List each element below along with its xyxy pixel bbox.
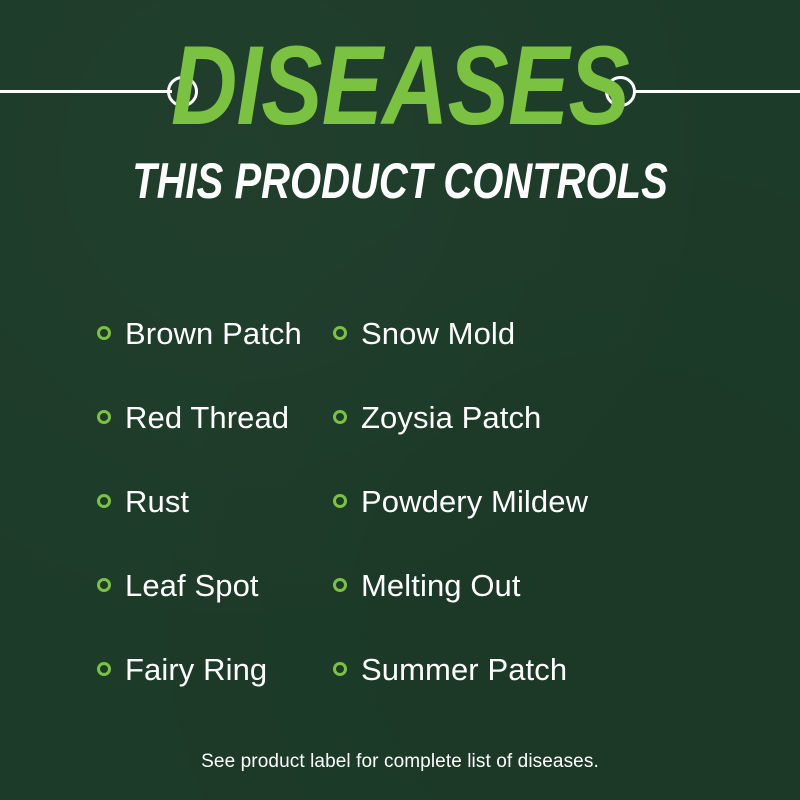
list-item: Leaf Spot [97,543,333,627]
disease-list: Brown Patch Red Thread Rust Leaf Spot Fa… [0,291,800,711]
bullet-ring-icon [97,494,111,508]
bullet-ring-icon [333,410,347,424]
disease-label: Red Thread [125,402,289,433]
disease-label: Leaf Spot [125,570,259,601]
disease-column-left: Brown Patch Red Thread Rust Leaf Spot Fa… [0,291,333,711]
list-item: Summer Patch [333,627,703,711]
bullet-ring-icon [333,326,347,340]
bullet-ring-icon [333,662,347,676]
list-item: Fairy Ring [97,627,333,711]
disease-label: Snow Mold [361,318,515,349]
disease-label: Brown Patch [125,318,302,349]
list-item: Melting Out [333,543,703,627]
bullet-ring-icon [97,578,111,592]
footer-note: See product label for complete list of d… [0,750,800,774]
disease-label: Fairy Ring [125,654,267,685]
list-item: Rust [97,459,333,543]
list-item: Red Thread [97,375,333,459]
bullet-ring-icon [97,326,111,340]
page-subtitle: THIS PRODUCT CONTROLS [80,142,720,206]
disease-label: Powdery Mildew [361,486,588,517]
disease-column-right: Snow Mold Zoysia Patch Powdery Mildew Me… [333,291,703,711]
title-block: DISEASES THIS PRODUCT CONTROLS [0,0,800,206]
disease-label: Zoysia Patch [361,402,541,433]
page-title: DISEASES [72,0,728,142]
disease-label: Melting Out [361,570,521,601]
bullet-ring-icon [333,494,347,508]
list-item: Brown Patch [97,291,333,375]
bullet-ring-icon [97,410,111,424]
list-item: Powdery Mildew [333,459,703,543]
diseases-controlled-card: DISEASES THIS PRODUCT CONTROLS Brown Pat… [0,0,800,800]
list-item: Zoysia Patch [333,375,703,459]
bullet-ring-icon [333,578,347,592]
disease-label: Rust [125,486,189,517]
disease-label: Summer Patch [361,654,567,685]
list-item: Snow Mold [333,291,703,375]
bullet-ring-icon [97,662,111,676]
